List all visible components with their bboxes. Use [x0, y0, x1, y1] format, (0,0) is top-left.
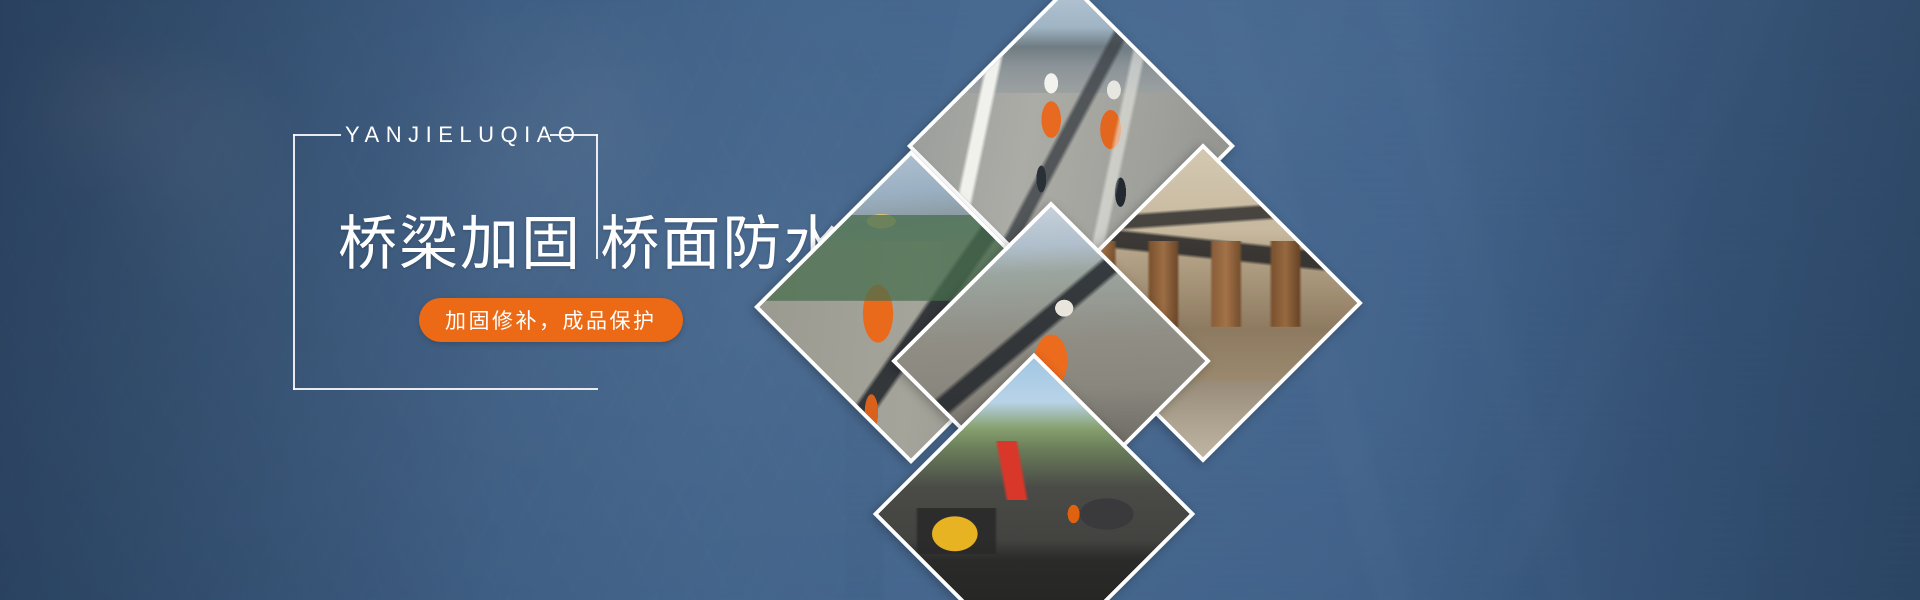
headline-block: YANJIELUQIAO 桥梁加固 桥面防水 加固修补，成品保护	[293, 120, 598, 390]
frame-left-line	[293, 134, 295, 390]
frame-top-left-line	[293, 134, 341, 136]
frame-bottom-line	[293, 388, 598, 390]
tagline-badge: 加固修补，成品保护	[419, 298, 683, 342]
diamond-photo-collage	[760, 0, 1320, 600]
eyebrow-pinyin: YANJIELUQIAO	[345, 123, 545, 147]
promo-banner: YANJIELUQIAO 桥梁加固 桥面防水 加固修补，成品保护	[0, 0, 1920, 600]
